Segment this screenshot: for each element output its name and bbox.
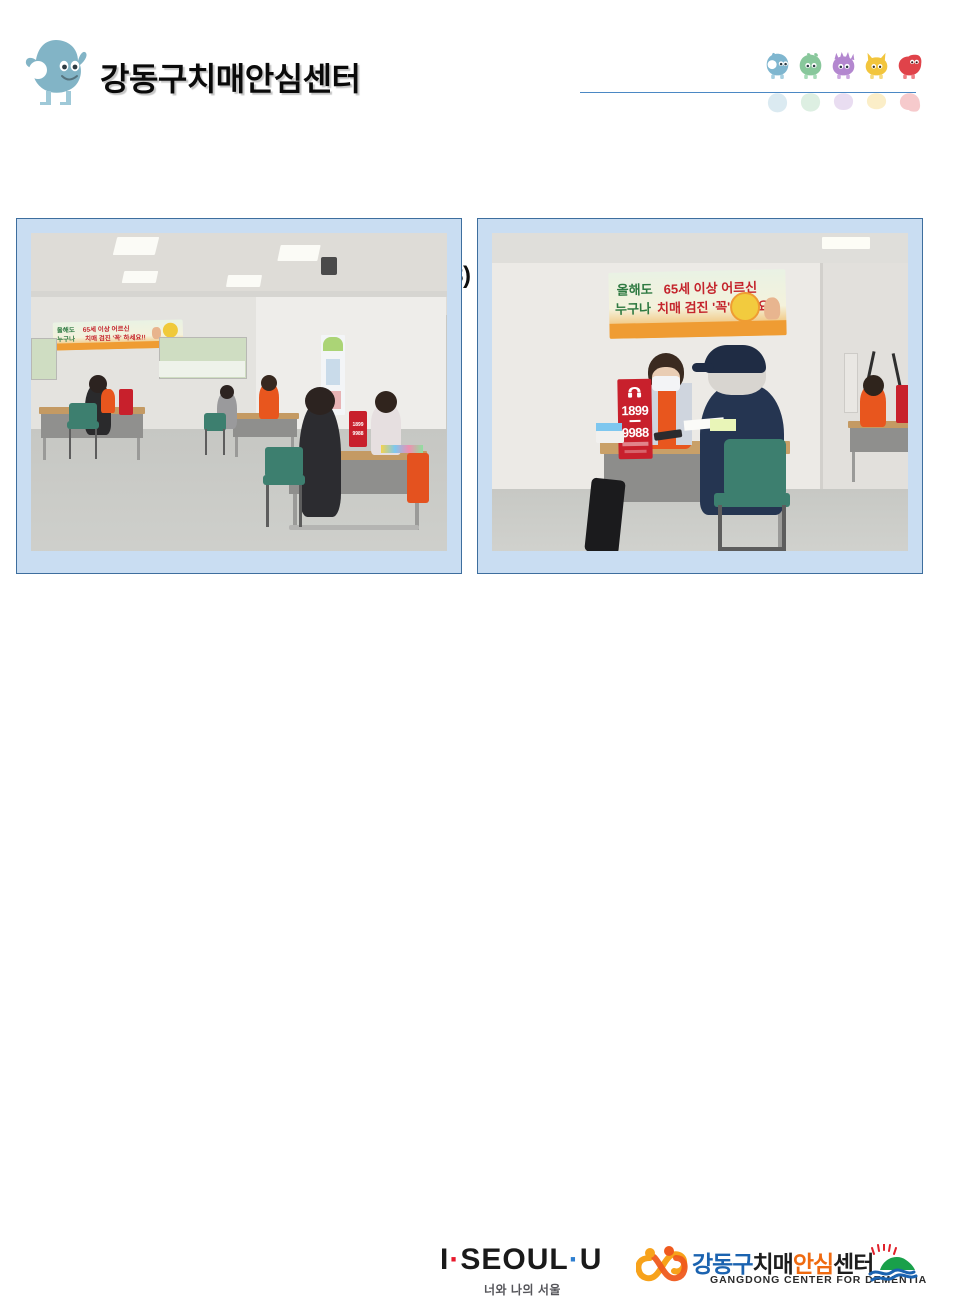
floor-bag: [584, 477, 626, 551]
redsign-left-a: [119, 389, 133, 415]
redsign-number-top: 1899: [618, 403, 652, 419]
banner-line2-start: 누구나: [57, 333, 75, 343]
mascot-green: [796, 50, 826, 116]
photo-screening-consultation-closeup[interactable]: 올해도 65세 이상 어르신 누구나 치매 검진 '꼭' 하세요!!: [477, 218, 923, 574]
banner-line2-rest: 치매 검진 '꼭' 하세요!!: [85, 331, 146, 342]
photo-community-center-wide-view[interactable]: 올해도 65세 이상 어르신 누구나 치매 검진 '꼭' 하세요!!: [16, 218, 462, 574]
seoul-dot-blue: ·: [569, 1243, 580, 1276]
seoul-dot-red: ·: [449, 1243, 460, 1276]
mascot-purple: [829, 50, 859, 116]
mascot-character-row: [763, 50, 923, 116]
page-title: 강동구치매안심센터: [100, 54, 360, 100]
infinity-people-icon: [636, 1244, 688, 1284]
photo-image-left: 올해도 65세 이상 어르신 누구나 치매 검진 '꼭' 하세요!!: [31, 233, 447, 551]
redsign-right-b: [896, 385, 908, 423]
banner-line2-start: 누구나: [615, 298, 651, 318]
banner-line2-rest: 치매 검진 '꼭' 하세요!!: [657, 295, 779, 317]
mascot-blue: [763, 50, 793, 116]
redsign-right-a: 1899 9988: [617, 379, 652, 460]
seoul-word: SEOUL: [460, 1243, 568, 1276]
photo-image-right: 올해도 65세 이상 어르신 누구나 치매 검진 '꼭' 하세요!!: [492, 233, 908, 551]
mascot-yellow: [862, 50, 892, 116]
face-mask-icon: [652, 376, 680, 391]
wall-banner-right: 올해도 65세 이상 어르신 누구나 치매 검진 '꼭' 하세요!!: [608, 269, 786, 339]
gangdong-gu-emblem-icon: [868, 1244, 920, 1284]
mascot-red: [895, 50, 925, 116]
person-seated-foreground: [299, 401, 341, 517]
seoul-letter-i: I: [440, 1243, 449, 1276]
seoul-letter-u: U: [580, 1243, 603, 1276]
redsign-left-b: 1899 9988: [349, 411, 367, 447]
gangdong-center-logo: 강동구치매안심센터 GANGDONG CENTER FOR DEMENTIA: [636, 1242, 926, 1300]
dementia-mascot-icon: [18, 36, 94, 108]
header-bar: 강동구치매안심센터: [0, 0, 960, 115]
telephone-icon: [627, 385, 641, 396]
subtitle-block: 주민센터 치매검진 및 상담(2022.09.23) : 명일1동 주민센터 사…: [0, 122, 960, 212]
footer-logos: I·SEOUL·U 너와 나의 서울 강동구치매안심센터 GANGDONG CE…: [0, 618, 960, 698]
i-seoul-u-logo: I·SEOUL·U 너와 나의 서울: [440, 1243, 625, 1299]
seoul-wordmark: I·SEOUL·U: [440, 1243, 602, 1277]
banner-line1-start: 올해도: [616, 279, 652, 299]
seoul-tagline: 너와 나의 서울: [484, 1281, 561, 1298]
